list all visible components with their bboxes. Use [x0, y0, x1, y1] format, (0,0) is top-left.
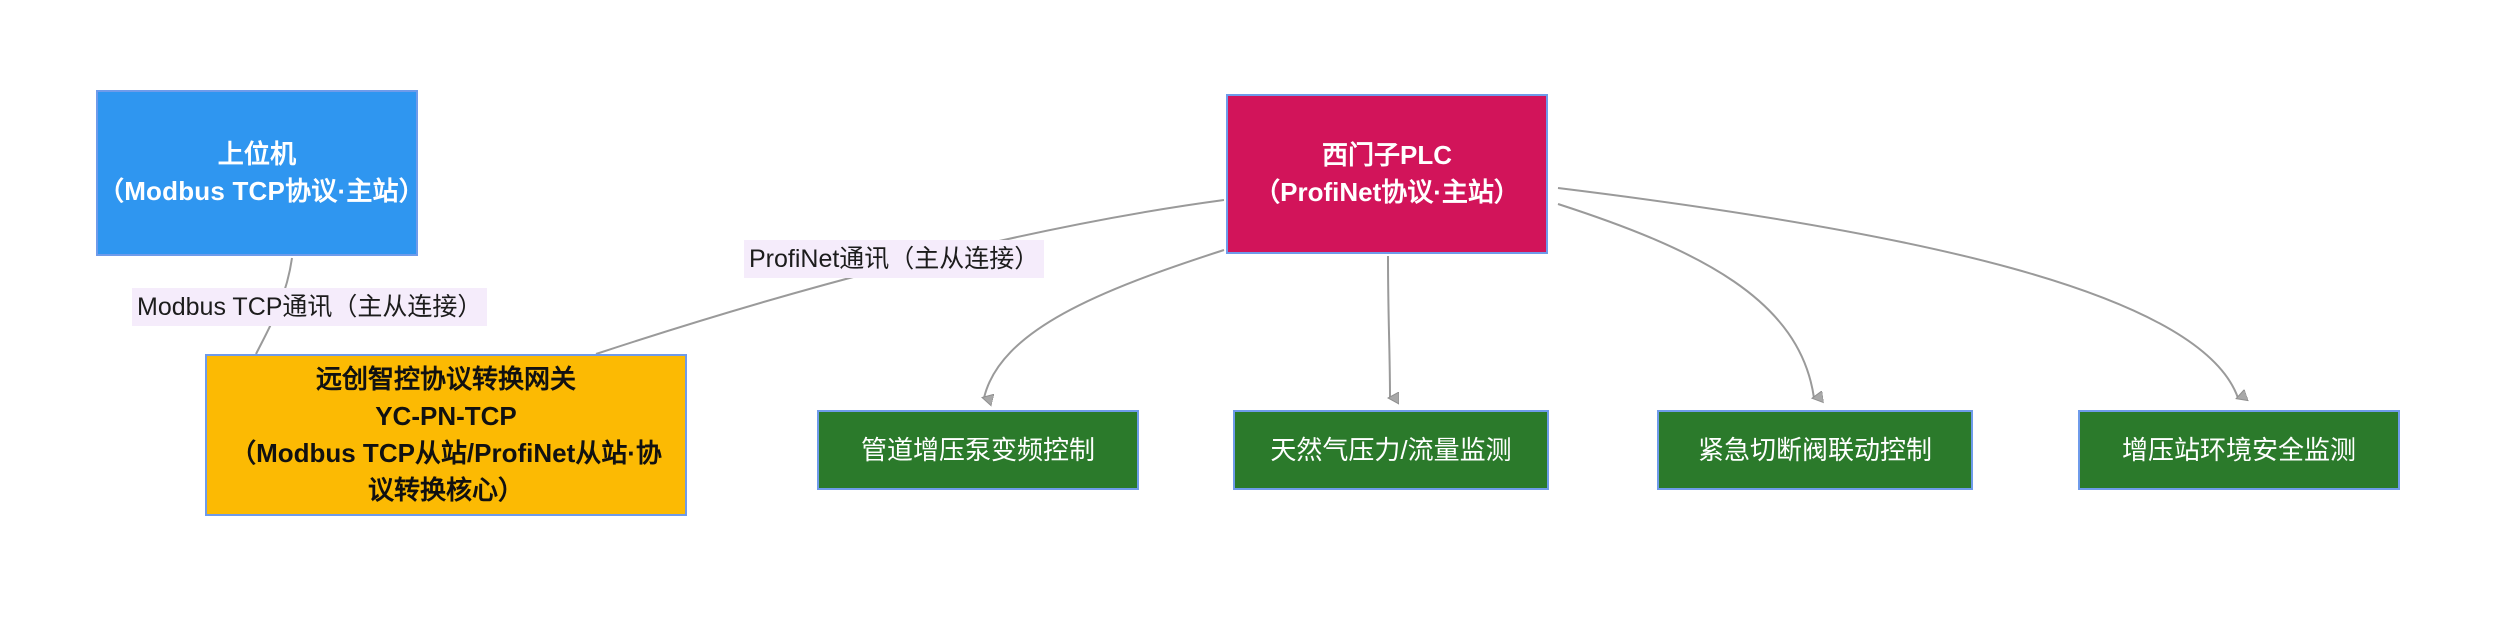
diagram-canvas: 上位机 （Modbus TCP协议·主站） 西门子PLC （ProfiNet协议…	[0, 0, 2494, 626]
edge-label-profinet: ProfiNet通讯（主从连接）	[744, 240, 1044, 278]
node-leaf-3-label: 增压站环境安全监测	[2080, 432, 2398, 469]
node-leaf-0[interactable]: 管道增压泵变频控制	[817, 410, 1139, 490]
node-leaf-1-label: 天然气压力/流量监测	[1235, 432, 1547, 469]
node-leaf-3[interactable]: 增压站环境安全监测	[2078, 410, 2400, 490]
node-gateway-label: 远创智控协议转换网关 YC-PN-TCP （Modbus TCP从站/Profi…	[207, 361, 685, 509]
node-gateway[interactable]: 远创智控协议转换网关 YC-PN-TCP （Modbus TCP从站/Profi…	[205, 354, 687, 516]
node-plc[interactable]: 西门子PLC （ProfiNet协议·主站）	[1226, 94, 1548, 254]
node-host-label: 上位机 （Modbus TCP协议·主站）	[98, 136, 416, 210]
edge-plc-to-leaf-2	[1558, 204, 1814, 398]
node-leaf-2-label: 紧急切断阀联动控制	[1659, 432, 1971, 469]
node-host[interactable]: 上位机 （Modbus TCP协议·主站）	[96, 90, 418, 256]
node-leaf-0-label: 管道增压泵变频控制	[819, 432, 1137, 469]
edge-plc-to-leaf-1	[1388, 256, 1390, 398]
edge-plc-to-leaf-3	[1558, 188, 2238, 398]
edge-label-modbus: Modbus TCP通讯（主从连接）	[132, 288, 487, 326]
node-leaf-2[interactable]: 紧急切断阀联动控制	[1657, 410, 1973, 490]
node-leaf-1[interactable]: 天然气压力/流量监测	[1233, 410, 1549, 490]
node-plc-label: 西门子PLC （ProfiNet协议·主站）	[1228, 137, 1546, 211]
